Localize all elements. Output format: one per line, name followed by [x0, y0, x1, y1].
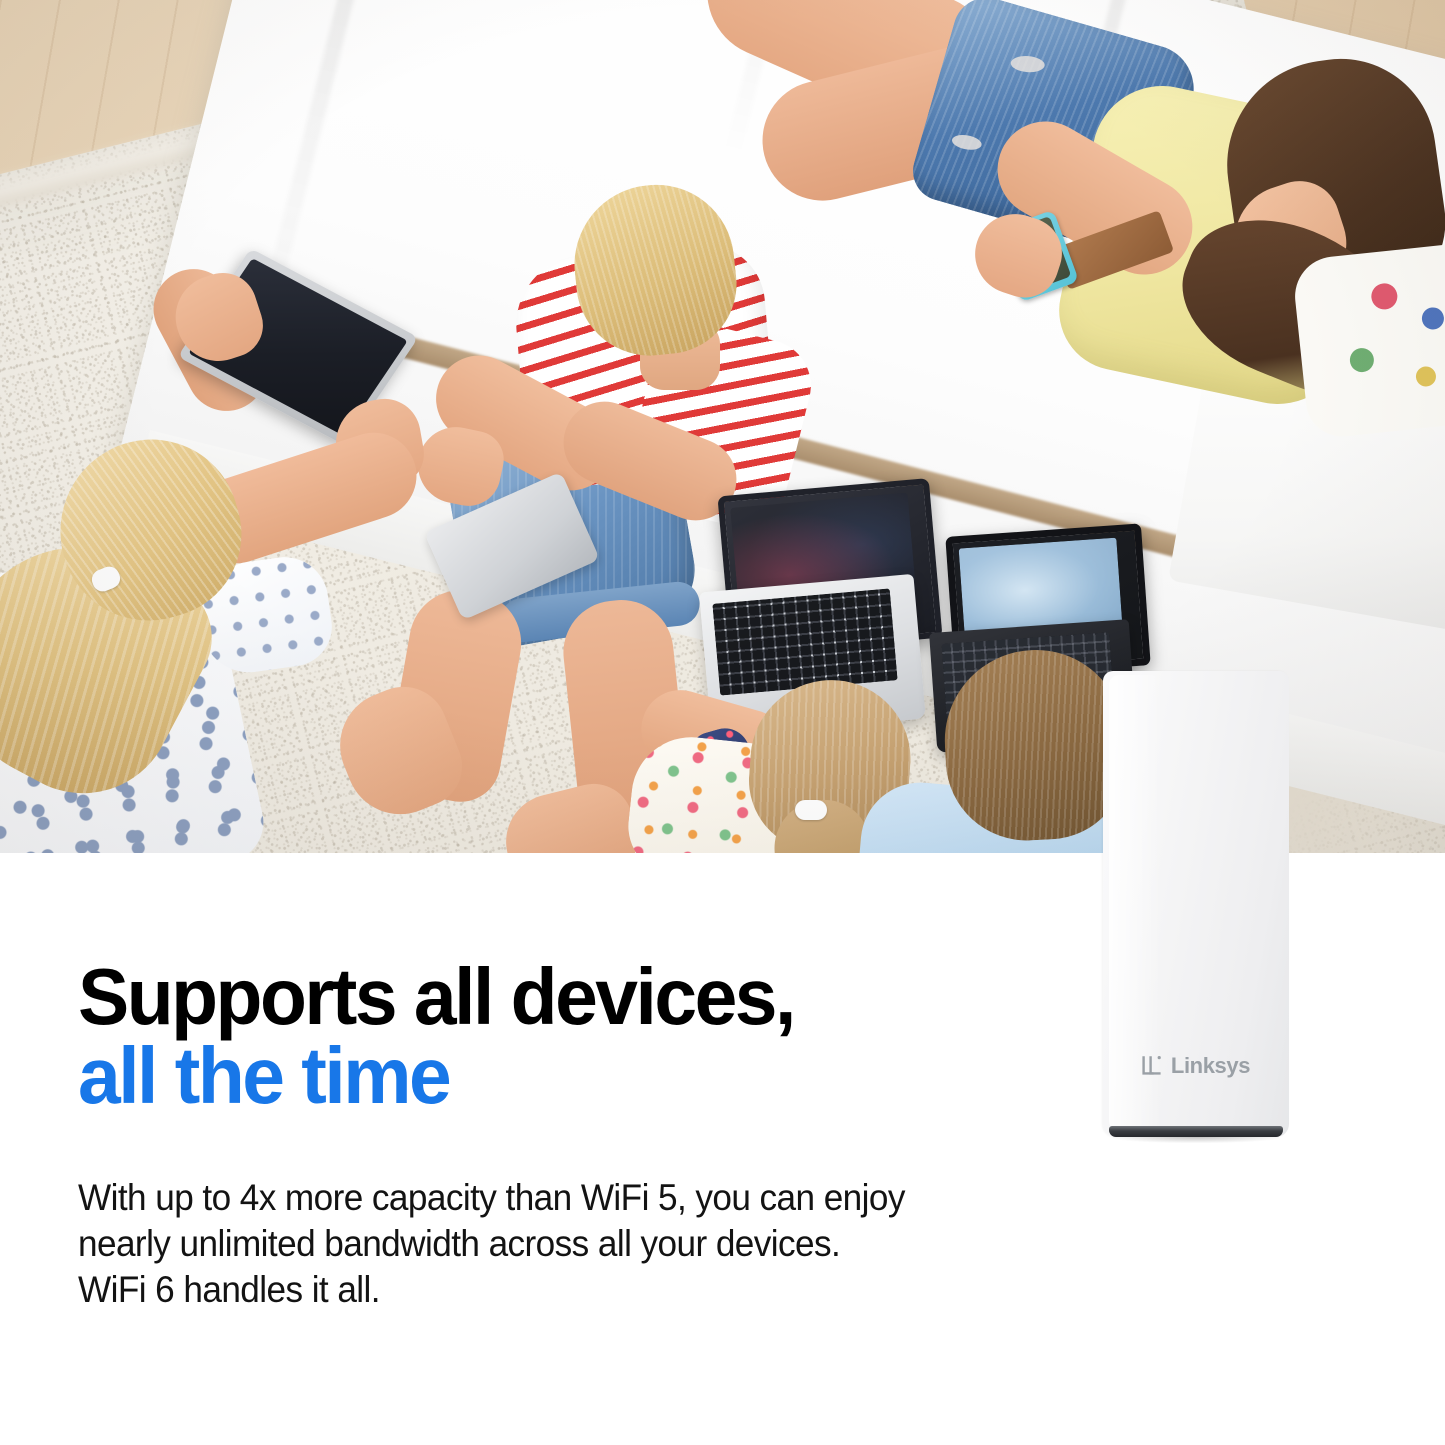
- marketing-panel: Linksys Supports all devices, all the ti…: [0, 0, 1445, 1445]
- page-title: Supports all devices, all the time: [78, 957, 1038, 1115]
- router-base: [1109, 1126, 1283, 1137]
- headline-line-2: all the time: [78, 1036, 1038, 1115]
- router-base-shadow: [1113, 1137, 1279, 1143]
- linksys-router: Linksys: [1103, 671, 1289, 1145]
- linksys-wordmark: Linksys: [1171, 1053, 1250, 1079]
- body-line-1: With up to 4x more capacity than WiFi 5,…: [78, 1175, 1180, 1221]
- body-copy: With up to 4x more capacity than WiFi 5,…: [78, 1175, 1180, 1313]
- body-line-3: WiFi 6 handles it all.: [78, 1267, 1180, 1313]
- headline-line-1: Supports all devices,: [78, 952, 794, 1041]
- linksys-logo: Linksys: [1103, 1053, 1289, 1079]
- body-line-2: nearly unlimited bandwidth across all yo…: [78, 1221, 1180, 1267]
- linksys-bracket-icon: [1142, 1055, 1168, 1077]
- little-girl-hair-tie: [795, 800, 827, 820]
- floral-pillow: [1291, 240, 1445, 440]
- silver-laptop-keyboard: [712, 588, 897, 695]
